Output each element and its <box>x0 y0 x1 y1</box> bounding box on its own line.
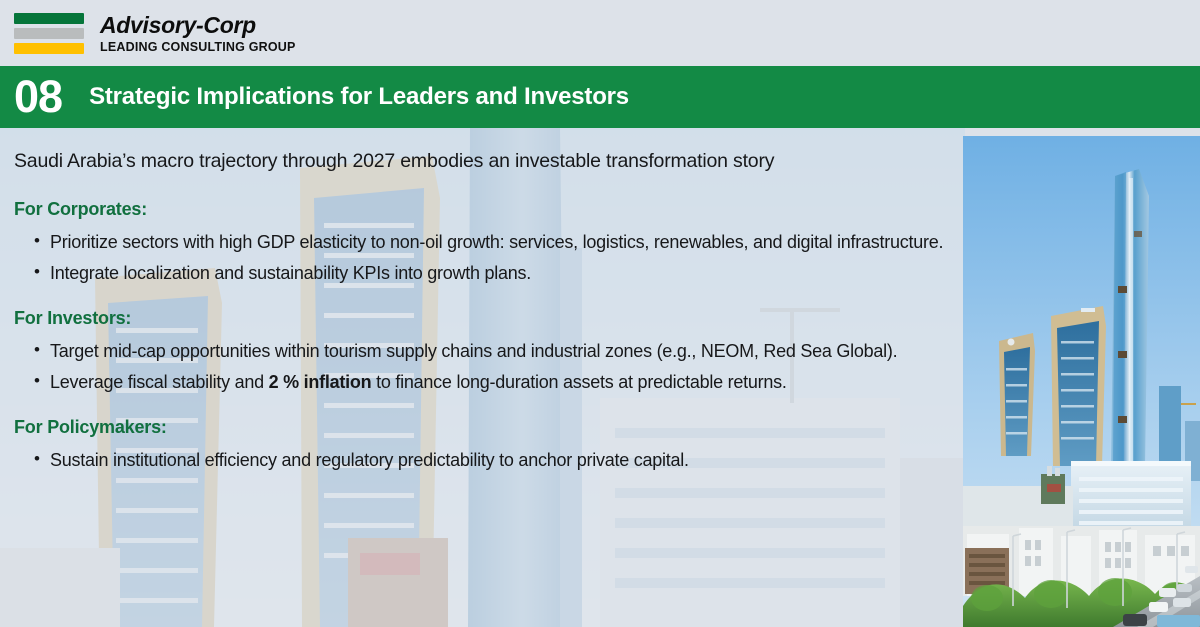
section-heading-policymakers: For Policymakers: <box>14 417 947 438</box>
slide-root: Advisory-Corp LEADING CONSULTING GROUP 0… <box>0 0 1200 627</box>
top-brand-bar: Advisory-Corp LEADING CONSULTING GROUP <box>0 0 1200 66</box>
bullet-list-investors: Target mid-cap opportunities within tour… <box>12 336 947 397</box>
bullet-list-corporates: Prioritize sectors with high GDP elastic… <box>12 227 947 288</box>
section-title-band: 08 Strategic Implications for Leaders an… <box>0 66 1200 128</box>
page-title: Strategic Implications for Leaders and I… <box>89 83 629 111</box>
logo-bars-icon <box>14 13 84 54</box>
slide-number: 08 <box>0 74 62 119</box>
brand-name: Advisory-Corp <box>100 12 296 38</box>
logo-bar-yellow-icon <box>14 43 84 54</box>
bullet-text: Prioritize sectors with high GDP elastic… <box>50 232 943 252</box>
brand-logo[interactable]: Advisory-Corp LEADING CONSULTING GROUP <box>0 12 296 54</box>
section-heading-investors: For Investors: <box>14 308 947 329</box>
bullet-text: Target mid-cap opportunities within tour… <box>50 341 897 361</box>
bullet-text-emphasis: 2 % inflation <box>269 372 372 392</box>
photo-city-image <box>963 136 1200 627</box>
list-item: Leverage fiscal stability and 2 % inflat… <box>12 367 947 397</box>
bullet-list-policymakers: Sustain institutional efficiency and reg… <box>12 445 947 475</box>
logo-bar-gray-icon <box>14 28 84 39</box>
bullet-text-prefix: Leverage fiscal stability and <box>50 372 269 392</box>
list-item: Sustain institutional efficiency and reg… <box>12 445 947 475</box>
main-content: Saudi Arabia’s macro trajectory through … <box>0 128 965 627</box>
lede-paragraph: Saudi Arabia’s macro trajectory through … <box>14 150 947 173</box>
section-heading-corporates: For Corporates: <box>14 199 947 220</box>
bullet-text-suffix: to finance long-duration assets at predi… <box>371 372 786 392</box>
list-item: Target mid-cap opportunities within tour… <box>12 336 947 366</box>
bullet-text: Integrate localization and sustainabilit… <box>50 263 531 283</box>
brand-text-block: Advisory-Corp LEADING CONSULTING GROUP <box>100 12 296 54</box>
bullet-text: Sustain institutional efficiency and reg… <box>50 450 689 470</box>
brand-tagline: LEADING CONSULTING GROUP <box>100 40 296 54</box>
logo-bar-green-icon <box>14 13 84 24</box>
riyadh-cityscape-photo <box>963 136 1200 627</box>
list-item: Prioritize sectors with high GDP elastic… <box>12 227 947 257</box>
list-item: Integrate localization and sustainabilit… <box>12 258 947 288</box>
